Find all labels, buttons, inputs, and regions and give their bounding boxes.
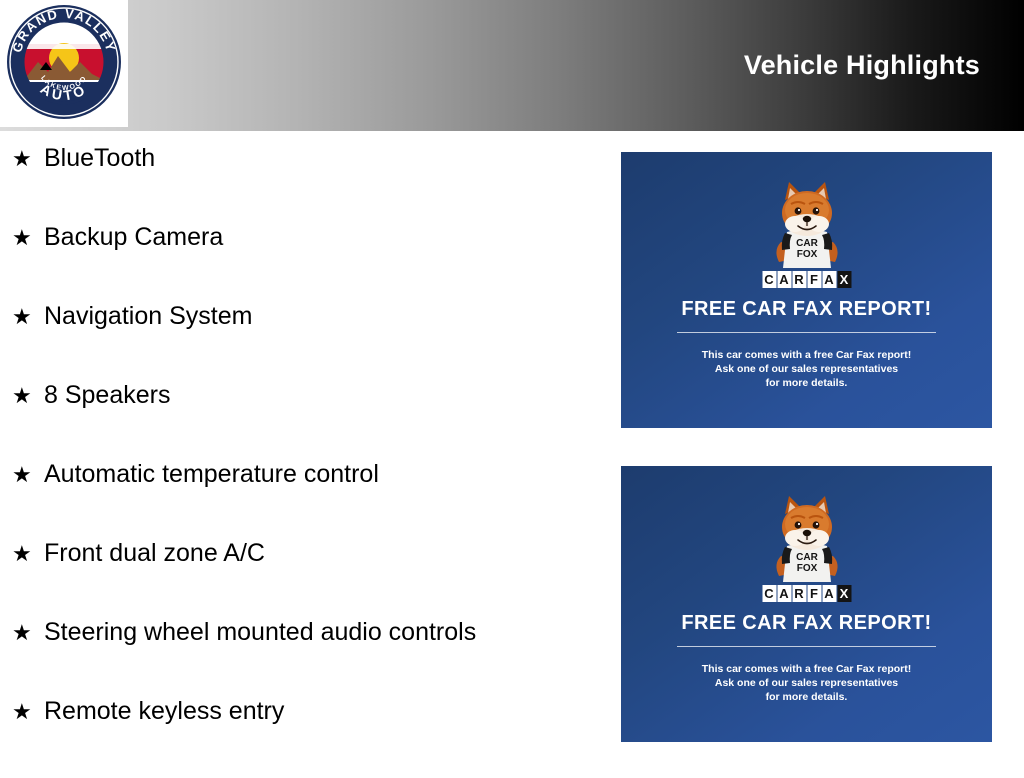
fineprint-line-3: for more details. [621,690,992,704]
star-icon: ★ [12,543,44,565]
carfax-wordmark: C A R F A X [762,271,851,288]
feature-label: 8 Speakers [44,383,170,408]
banner-divider [677,646,936,647]
grand-valley-auto-logo: GRAND VALLEY AUTO LAKEWOOD [0,0,128,127]
carfax-promo-banner[interactable]: CAR FOX [621,466,992,742]
mascot-shirt-line2: FOX [796,249,817,260]
list-item: ★ Remote keyless entry [0,699,610,778]
fineprint-line-1: This car comes with a free Car Fax repor… [621,662,992,676]
list-item: ★ Navigation System [0,304,610,383]
list-item: ★ Steering wheel mounted audio controls [0,620,610,699]
fineprint-line-2: Ask one of our sales representatives [621,676,992,690]
feature-label: Automatic temperature control [44,462,379,487]
star-icon: ★ [12,148,44,170]
feature-label: Backup Camera [44,225,223,250]
star-icon: ★ [12,622,44,644]
mascot-shirt-line1: CAR [796,238,818,249]
mascot-shirt-line1: CAR [796,552,818,563]
list-item: ★ Automatic temperature control [0,462,610,541]
slide-header: Vehicle Highlights [0,0,1024,131]
logo-graphic: GRAND VALLEY AUTO LAKEWOOD [0,0,128,127]
list-item: ★ BlueTooth [0,146,610,225]
star-icon: ★ [12,306,44,328]
mascot-shirt-line2: FOX [796,563,817,574]
feature-label: Steering wheel mounted audio controls [44,620,476,645]
fineprint-line-1: This car comes with a free Car Fax repor… [621,348,992,362]
carfax-tile: X [837,271,851,288]
banner-fineprint: This car comes with a free Car Fax repor… [621,348,992,390]
car-fox-mascot-icon: CAR FOX [751,180,863,276]
carfax-tile: F [807,585,821,602]
star-icon: ★ [12,701,44,723]
banner-headline: FREE CAR FAX REPORT! [621,612,992,635]
feature-label: BlueTooth [44,146,155,171]
carfax-tile: A [822,585,836,602]
carfax-promo-banner[interactable]: CAR FOX [621,152,992,428]
carfax-wordmark: C A R F A X [762,585,851,602]
carfax-tile: X [837,585,851,602]
star-icon: ★ [12,464,44,486]
feature-label: Navigation System [44,304,252,329]
list-item: ★ Front dual zone A/C [0,541,610,620]
carfax-tile: A [777,271,791,288]
car-fox-mascot-icon: CAR FOX [751,494,863,590]
carfax-tile: R [792,585,806,602]
star-icon: ★ [12,227,44,249]
feature-label: Front dual zone A/C [44,541,265,566]
page-title: Vehicle Highlights [744,50,980,81]
banner-headline: FREE CAR FAX REPORT! [621,298,992,321]
carfax-tile: C [762,271,776,288]
banner-divider [677,332,936,333]
carfax-tile: A [777,585,791,602]
carfax-tile: A [822,271,836,288]
list-item: ★ 8 Speakers [0,383,610,462]
vehicle-features-list: ★ BlueTooth ★ Backup Camera ★ Navigation… [0,146,610,778]
carfax-tile: R [792,271,806,288]
fineprint-line-2: Ask one of our sales representatives [621,362,992,376]
fineprint-line-3: for more details. [621,376,992,390]
list-item: ★ Backup Camera [0,225,610,304]
feature-label: Remote keyless entry [44,699,284,724]
carfax-tile: F [807,271,821,288]
carfax-tile: C [762,585,776,602]
star-icon: ★ [12,385,44,407]
banner-fineprint: This car comes with a free Car Fax repor… [621,662,992,704]
